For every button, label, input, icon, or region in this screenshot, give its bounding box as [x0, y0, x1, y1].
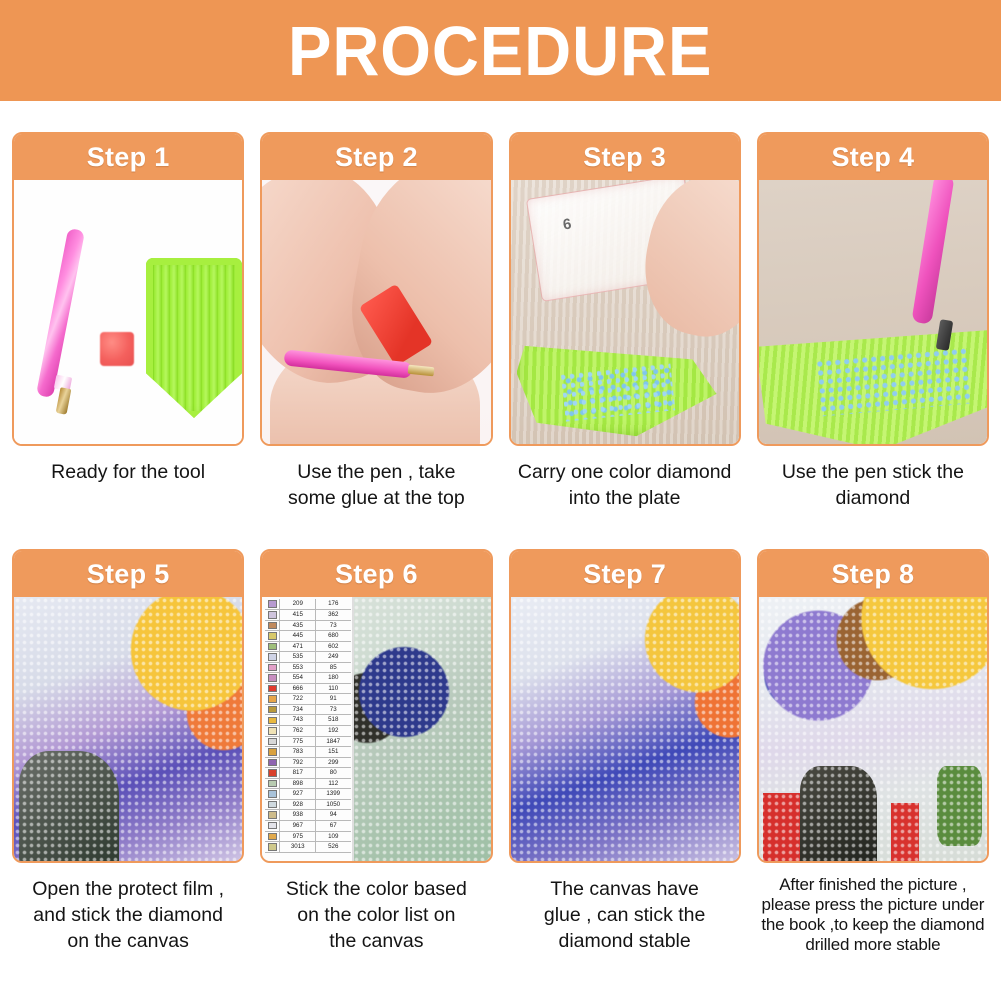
color-count: 176 [316, 599, 350, 609]
color-legend-row: 554180 [265, 673, 351, 684]
color-legend-row: 898112 [265, 779, 351, 790]
color-legend-row: 3013526 [265, 842, 351, 853]
color-code: 928 [280, 800, 316, 810]
color-count: 299 [316, 758, 350, 768]
mosaic-canvas-illustration [14, 597, 242, 861]
color-symbol-swatch [265, 610, 280, 620]
swatch-icon [268, 843, 277, 851]
color-legend-row: 783151 [265, 747, 351, 758]
color-code: 898 [280, 779, 316, 789]
swatch-icon [268, 790, 277, 798]
color-symbol-swatch [265, 768, 280, 778]
glue-square-icon [100, 332, 134, 366]
color-code: 975 [280, 832, 316, 842]
step-7-caption: The canvas have glue , can stick the dia… [509, 877, 741, 954]
color-code: 817 [280, 768, 316, 778]
step-4-card: Step 4 [757, 132, 989, 446]
color-legend-row: 9271399 [265, 789, 351, 800]
step-3-header-label: Step 3 [583, 142, 666, 173]
color-legend-row: 666110 [265, 684, 351, 695]
step-7-header: Step 7 [511, 551, 739, 597]
color-count: 73 [316, 621, 350, 631]
mosaic-green-region [937, 766, 983, 845]
step-5-card: Step 5 [12, 549, 244, 863]
color-legend-row: 535249 [265, 652, 351, 663]
color-symbol-swatch [265, 747, 280, 757]
step-2-header: Step 2 [262, 134, 490, 180]
color-legend-row: 72291 [265, 694, 351, 705]
step-8-header-label: Step 8 [831, 559, 914, 590]
color-symbol-swatch [265, 758, 280, 768]
color-legend-row: 445680 [265, 631, 351, 642]
step-4-image [759, 180, 987, 444]
color-code: 554 [280, 673, 316, 683]
swatch-icon [268, 664, 277, 672]
swatch-icon [268, 643, 277, 651]
color-symbol-swatch [265, 631, 280, 641]
swatch-icon [268, 717, 277, 725]
color-count: 73 [316, 705, 350, 715]
color-symbol-swatch [265, 821, 280, 831]
color-symbol-swatch [265, 726, 280, 736]
step-3-caption: Carry one color diamond into the plate [509, 460, 741, 511]
color-symbol-swatch [265, 684, 280, 694]
color-legend-row: 7751847 [265, 737, 351, 748]
color-code: 762 [280, 726, 316, 736]
color-code: 435 [280, 621, 316, 631]
color-symbol-swatch [265, 642, 280, 652]
steps-row-top: Step 1 Ready for the tool [0, 132, 1001, 511]
swatch-icon [268, 611, 277, 619]
color-count: 362 [316, 610, 350, 620]
color-code: 743 [280, 715, 316, 725]
step-7-image [511, 597, 739, 861]
color-code: 666 [280, 684, 316, 694]
color-count: 94 [316, 810, 350, 820]
color-code: 792 [280, 758, 316, 768]
color-count: 526 [316, 842, 350, 852]
swatch-icon [268, 738, 277, 746]
color-symbol-swatch [265, 621, 280, 631]
color-symbol-swatch [265, 800, 280, 810]
color-count: 151 [316, 747, 350, 757]
swatch-icon [268, 695, 277, 703]
color-symbol-swatch [265, 832, 280, 842]
green-tray-rim-icon [146, 258, 242, 418]
pouring-diamonds-illustration: 6 [511, 180, 739, 444]
color-count: 109 [316, 832, 350, 842]
color-legend-row: 73473 [265, 705, 351, 716]
step-card-3: Step 3 6 Carry one color diamond into th… [509, 132, 741, 511]
color-legend-row: 743518 [265, 715, 351, 726]
step-6-card: Step 6 209176415362435734456804716025352… [260, 549, 492, 863]
color-symbol-swatch [265, 810, 280, 820]
swatch-icon [268, 811, 277, 819]
step-8-image [759, 597, 987, 861]
mosaic-canvas-illustration [511, 597, 739, 861]
color-count: 602 [316, 642, 350, 652]
step-7-header-label: Step 7 [583, 559, 666, 590]
color-count: 180 [316, 673, 350, 683]
color-code: 783 [280, 747, 316, 757]
step-1-card: Step 1 [12, 132, 244, 446]
pink-pen-icon [911, 180, 954, 325]
color-symbol-swatch [265, 663, 280, 673]
step-6-caption: Stick the color based on the color list … [260, 877, 492, 954]
color-count: 91 [316, 694, 350, 704]
color-symbol-swatch [265, 673, 280, 683]
color-code: 927 [280, 789, 316, 799]
swatch-icon [268, 727, 277, 735]
color-code: 722 [280, 694, 316, 704]
color-code: 553 [280, 663, 316, 673]
step-1-caption: Ready for the tool [12, 460, 244, 486]
color-code: 967 [280, 821, 316, 831]
color-symbol-swatch [265, 694, 280, 704]
step-2-header-label: Step 2 [335, 142, 418, 173]
color-legend-row: 415362 [265, 610, 351, 621]
step-6-image: 2091764153624357344568047160253524955385… [262, 597, 490, 861]
color-legend-row: 762192 [265, 726, 351, 737]
swatch-icon [268, 653, 277, 661]
step-card-7: Step 7 The canvas have glue , can stick … [509, 549, 741, 954]
steps-grid: Step 1 Ready for the tool [0, 132, 1001, 955]
color-code: 3013 [280, 842, 316, 852]
color-code: 209 [280, 599, 316, 609]
step-6-header: Step 6 [262, 551, 490, 597]
swatch-icon [268, 685, 277, 693]
swatch-icon [268, 759, 277, 767]
color-code: 445 [280, 631, 316, 641]
swatch-icon [268, 769, 277, 777]
color-legend-table: 2091764153624357344568047160253524955385… [262, 597, 354, 861]
step-1-header: Step 1 [14, 134, 242, 180]
swatch-icon [268, 780, 277, 788]
mosaic-red-region [763, 793, 800, 862]
swatch-icon [268, 833, 277, 841]
color-code: 415 [280, 610, 316, 620]
color-legend-row: 43573 [265, 621, 351, 632]
step-8-caption: After finished the picture , please pres… [757, 875, 989, 954]
color-code: 535 [280, 652, 316, 662]
color-legend-row: 55385 [265, 663, 351, 674]
color-legend-row: 209176 [265, 599, 351, 610]
color-count: 518 [316, 715, 350, 725]
color-legend-row: 792299 [265, 758, 351, 769]
color-symbol-swatch [265, 789, 280, 799]
color-count: 112 [316, 779, 350, 789]
step-5-image [14, 597, 242, 861]
step-card-4: Step 4 Use the pen stick the diamond [757, 132, 989, 511]
pen-picking-diamond-illustration [759, 180, 987, 444]
pink-pen-icon [36, 228, 85, 398]
finished-mosaic-illustration [759, 597, 987, 861]
color-legend-row: 9281050 [265, 800, 351, 811]
pen-tip-icon [56, 387, 72, 415]
color-code: 775 [280, 737, 316, 747]
step-8-header: Step 8 [759, 551, 987, 597]
swatch-icon [268, 622, 277, 630]
step-card-2: Step 2 Use the pen , take some glue at t… [260, 132, 492, 511]
color-legend-row: 975109 [265, 832, 351, 843]
color-count: 110 [316, 684, 350, 694]
color-code: 734 [280, 705, 316, 715]
color-symbol-swatch [265, 705, 280, 715]
color-count: 1050 [316, 800, 350, 810]
color-symbol-swatch [265, 779, 280, 789]
color-count: 85 [316, 663, 350, 673]
color-count: 249 [316, 652, 350, 662]
step-2-image [262, 180, 490, 444]
step-2-card: Step 2 [260, 132, 492, 446]
step-card-1: Step 1 Ready for the tool [12, 132, 244, 511]
step-3-header: Step 3 [511, 134, 739, 180]
hands-glue-illustration [262, 180, 490, 444]
color-count: 67 [316, 821, 350, 831]
step-5-header-label: Step 5 [87, 559, 170, 590]
color-symbol-swatch [265, 737, 280, 747]
step-5-caption: Open the protect film , and stick the di… [12, 877, 244, 954]
step-1-header-label: Step 1 [87, 142, 170, 173]
mosaic-dark-region [19, 751, 119, 862]
color-count: 192 [316, 726, 350, 736]
color-legend-row: 81780 [265, 768, 351, 779]
color-count: 1847 [316, 737, 350, 747]
steps-row-bottom: Step 5 Open the protect film , and stick… [0, 549, 1001, 954]
mosaic-dark-region [800, 766, 878, 861]
swatch-icon [268, 600, 277, 608]
swatch-icon [268, 632, 277, 640]
page-title: PROCEDURE [288, 16, 712, 86]
step-5-header: Step 5 [14, 551, 242, 597]
swatch-icon [268, 706, 277, 714]
step-2-caption: Use the pen , take some glue at the top [260, 460, 492, 511]
color-code: 938 [280, 810, 316, 820]
swatch-icon [268, 748, 277, 756]
step-3-image: 6 [511, 180, 739, 444]
step-4-header-label: Step 4 [831, 142, 914, 173]
color-legend-row: 96767 [265, 821, 351, 832]
step-1-image [14, 180, 242, 444]
step-7-card: Step 7 [509, 549, 741, 863]
color-count: 1399 [316, 789, 350, 799]
color-symbol-swatch [265, 599, 280, 609]
color-symbol-swatch [265, 842, 280, 852]
swatch-icon [268, 801, 277, 809]
step-card-5: Step 5 Open the protect film , and stick… [12, 549, 244, 954]
step-4-caption: Use the pen stick the diamond [757, 460, 989, 511]
page-banner: PROCEDURE [0, 0, 1001, 101]
color-legend-row: 471602 [265, 642, 351, 653]
color-symbol-swatch [265, 715, 280, 725]
step-card-6: Step 6 209176415362435734456804716025352… [260, 549, 492, 954]
step-6-header-label: Step 6 [335, 559, 418, 590]
step-8-card: Step 8 [757, 549, 989, 863]
color-count: 680 [316, 631, 350, 641]
swatch-icon [268, 674, 277, 682]
step-card-8: Step 8 After finished the picture , plea… [757, 549, 989, 954]
color-code: 471 [280, 642, 316, 652]
color-symbol-swatch [265, 652, 280, 662]
tools-illustration [14, 180, 242, 444]
step-3-card: Step 3 6 [509, 132, 741, 446]
mosaic-red-region [891, 803, 918, 861]
swatch-icon [268, 822, 277, 830]
color-legend-row: 93894 [265, 810, 351, 821]
color-count: 80 [316, 768, 350, 778]
step-4-header: Step 4 [759, 134, 987, 180]
